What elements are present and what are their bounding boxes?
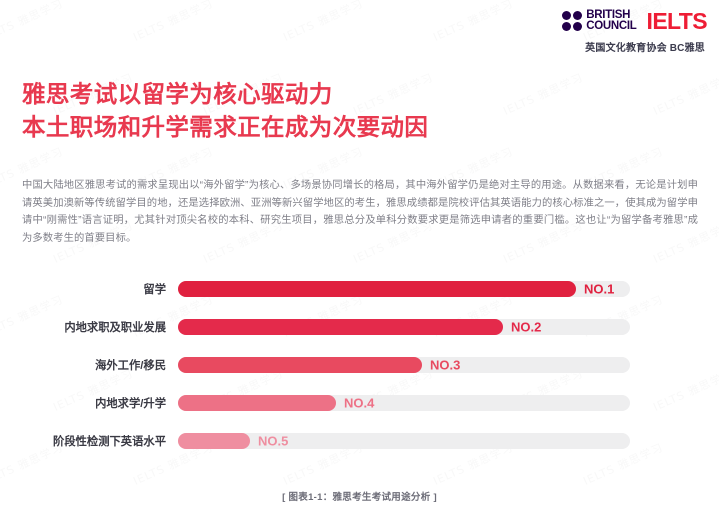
british-council-logo: BRITISH COUNCIL xyxy=(562,10,636,33)
watermark-text: IELTS 雅思学习 xyxy=(430,0,515,45)
bar-fill xyxy=(178,433,250,449)
body-paragraph: 中国大陆地区雅思考试的需求呈现出以“海外留学”为核心、多场景协同增长的格局，其中… xyxy=(22,177,698,248)
bar-row: 留学NO.1 xyxy=(0,270,719,308)
bar-row: 阶段性检测下英语水平NO.5 xyxy=(0,422,719,460)
headline-line-2: 本土职场和升学需求正在成为次要动因 xyxy=(22,111,428,144)
bar-row: 内地求职及职业发展NO.2 xyxy=(0,308,719,346)
bar-category-label: 内地求学/升学 xyxy=(0,395,178,411)
bar-category-label: 海外工作/移民 xyxy=(0,357,178,373)
bar-value-label: NO.1 xyxy=(584,282,614,297)
bar-value-label: NO.3 xyxy=(430,358,460,373)
bar-fill xyxy=(178,357,422,373)
bar-track-wrap: NO.3 xyxy=(178,346,630,384)
bar-category-label: 留学 xyxy=(0,281,178,297)
watermark-text: IELTS 雅思学习 xyxy=(130,0,215,45)
watermark-text: IELTS 雅思学习 xyxy=(650,69,719,119)
chart-caption: [ 图表1-1：雅思考生考试用途分析 ] xyxy=(0,489,719,503)
ielts-wordmark: IELTS xyxy=(647,10,707,33)
bar-row: 海外工作/移民NO.3 xyxy=(0,346,719,384)
bar-track-wrap: NO.4 xyxy=(178,384,630,422)
bar-fill xyxy=(178,395,336,411)
bar-row: 内地求学/升学NO.4 xyxy=(0,384,719,422)
usage-bar-chart: 留学NO.1内地求职及职业发展NO.2海外工作/移民NO.3内地求学/升学NO.… xyxy=(0,270,719,460)
dot-icon xyxy=(573,11,582,20)
brand-header: BRITISH COUNCIL IELTS 英国文化教育协会 BC雅思 xyxy=(507,8,707,54)
watermark-text: IELTS 雅思学习 xyxy=(0,0,66,45)
logo-row: BRITISH COUNCIL IELTS xyxy=(507,8,707,34)
dot-icon xyxy=(562,11,571,20)
headline-line-1: 雅思考试以留学为核心驱动力 xyxy=(22,78,428,111)
bar-value-label: NO.4 xyxy=(344,396,374,411)
british-council-wordmark: BRITISH COUNCIL xyxy=(586,10,636,33)
bar-track-wrap: NO.2 xyxy=(178,308,630,346)
brand-subtitle: 英国文化教育协会 BC雅思 xyxy=(507,39,707,54)
bar-category-label: 阶段性检测下英语水平 xyxy=(0,433,178,449)
watermark-text: IELTS 雅思学习 xyxy=(500,69,585,119)
bar-value-label: NO.2 xyxy=(511,320,541,335)
bar-category-label: 内地求职及职业发展 xyxy=(0,319,178,335)
bar-fill xyxy=(178,319,503,335)
page-title: 雅思考试以留学为核心驱动力 本土职场和升学需求正在成为次要动因 xyxy=(22,78,428,145)
bar-value-label: NO.5 xyxy=(258,434,288,449)
bar-track-wrap: NO.1 xyxy=(178,270,630,308)
bar-fill xyxy=(178,281,576,297)
british-council-dots-icon xyxy=(562,11,582,31)
bar-track-wrap: NO.5 xyxy=(178,422,630,460)
dot-icon xyxy=(562,22,571,31)
dot-icon xyxy=(573,22,582,31)
british-council-line2: COUNCIL xyxy=(586,21,636,33)
watermark-text: IELTS 雅思学习 xyxy=(280,0,365,45)
